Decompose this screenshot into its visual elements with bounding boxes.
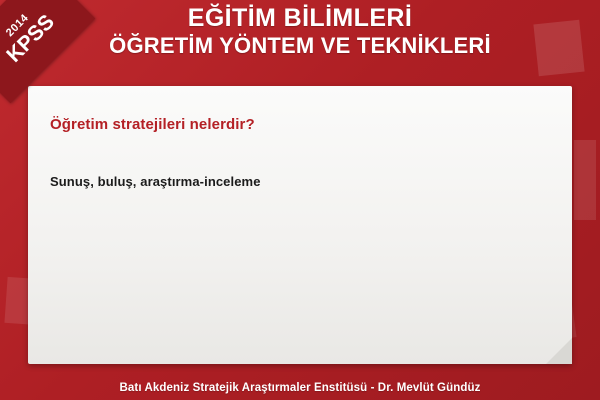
answer-text: Sunuş, buluş, araştırma-inceleme: [50, 174, 261, 189]
page-subtitle: ÖĞRETİM YÖNTEM VE TEKNİKLERİ: [0, 33, 600, 58]
content-card: Öğretim stratejileri nelerdir? Sunuş, bu…: [28, 86, 572, 364]
slide: 2014 KPSS EĞİTİM BİLİMLERİ ÖĞRETİM YÖNTE…: [0, 0, 600, 400]
question-text: Öğretim stratejileri nelerdir?: [50, 116, 255, 133]
footer-credit: Batı Akdeniz Stratejik Araştırmaler Enst…: [0, 382, 600, 394]
decorative-patch-right: [574, 140, 596, 220]
slide-header: EĞİTİM BİLİMLERİ ÖĞRETİM YÖNTEM VE TEKNİ…: [0, 4, 600, 58]
